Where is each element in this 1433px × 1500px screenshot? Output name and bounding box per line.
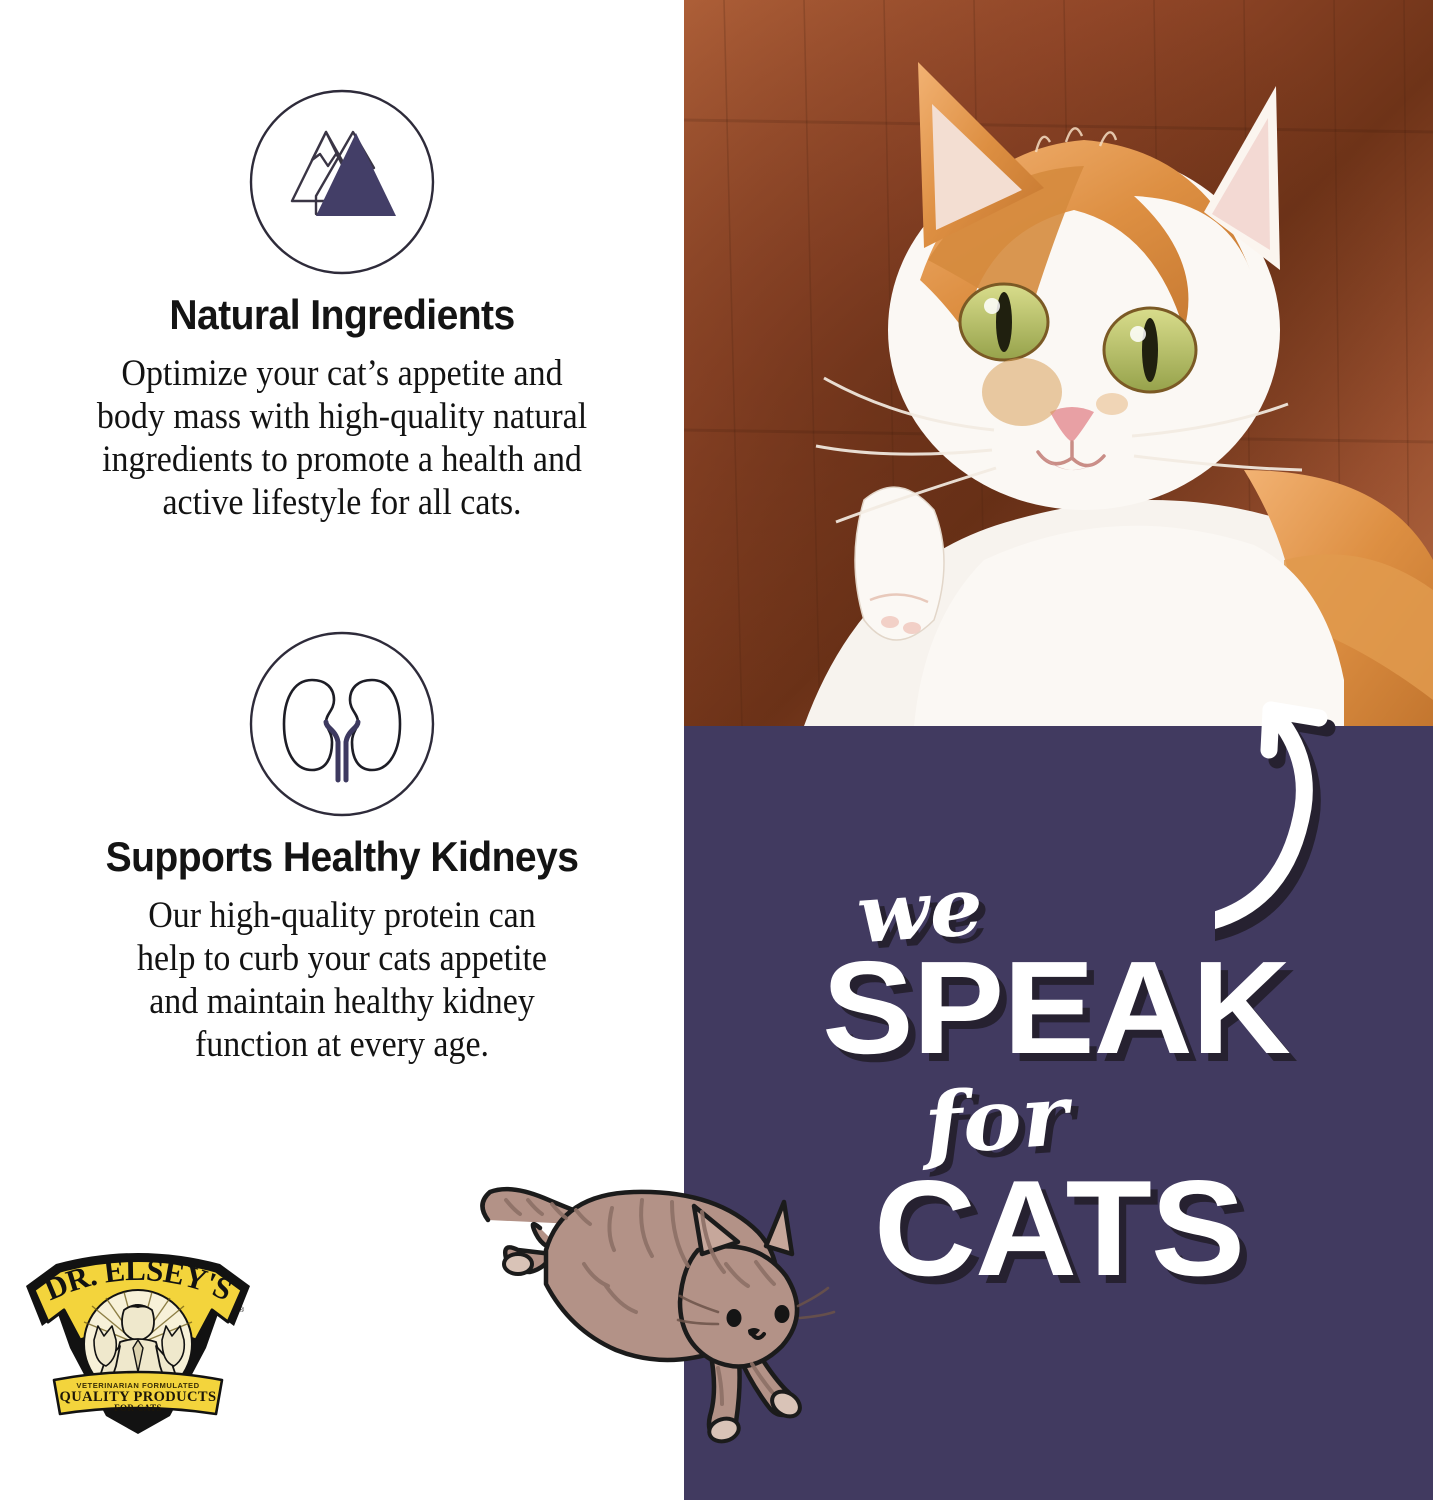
feature-body-line: active lifestyle for all cats.: [41, 480, 644, 523]
logo-registered-mark: ®: [239, 1306, 245, 1314]
feature-block-natural-ingredients: Natural Ingredients Optimize your cat’s …: [0, 86, 684, 524]
feature-title: Supports Healthy Kidneys: [24, 833, 660, 881]
kidneys-icon: [246, 628, 438, 820]
feature-title: Natural Ingredients: [24, 291, 660, 339]
hero-cat-photo-illustration: [684, 0, 1433, 726]
feature-block-healthy-kidneys: Supports Healthy Kidneys Our high-qualit…: [0, 628, 684, 1066]
hero-cat-photo: [684, 0, 1433, 726]
feature-body-line: function at every age.: [41, 1022, 644, 1065]
feature-body: Optimize your cat’s appetite and body ma…: [41, 351, 644, 523]
dr-elseys-logo: VETERINARIAN FORMULATED QUALITY PRODUCTS…: [20, 1252, 256, 1434]
logo-banner-line-3: FOR CATS: [114, 1403, 162, 1413]
feature-body-line: and maintain healthy kidney: [41, 979, 644, 1022]
feature-body-line: Optimize your cat’s appetite and: [41, 351, 644, 394]
feature-body-line: body mass with high-quality natural: [41, 394, 644, 437]
mountain-icon: [246, 86, 438, 278]
tagline-panel: [684, 726, 1433, 1500]
feature-body: Our high-quality protein can help to cur…: [41, 893, 644, 1065]
feature-body-line: ingredients to promote a health and: [41, 437, 644, 480]
product-infographic: Natural Ingredients Optimize your cat’s …: [0, 0, 1433, 1500]
feature-body-line: Our high-quality protein can: [41, 893, 644, 936]
feature-body-line: help to curb your cats appetite: [41, 936, 644, 979]
